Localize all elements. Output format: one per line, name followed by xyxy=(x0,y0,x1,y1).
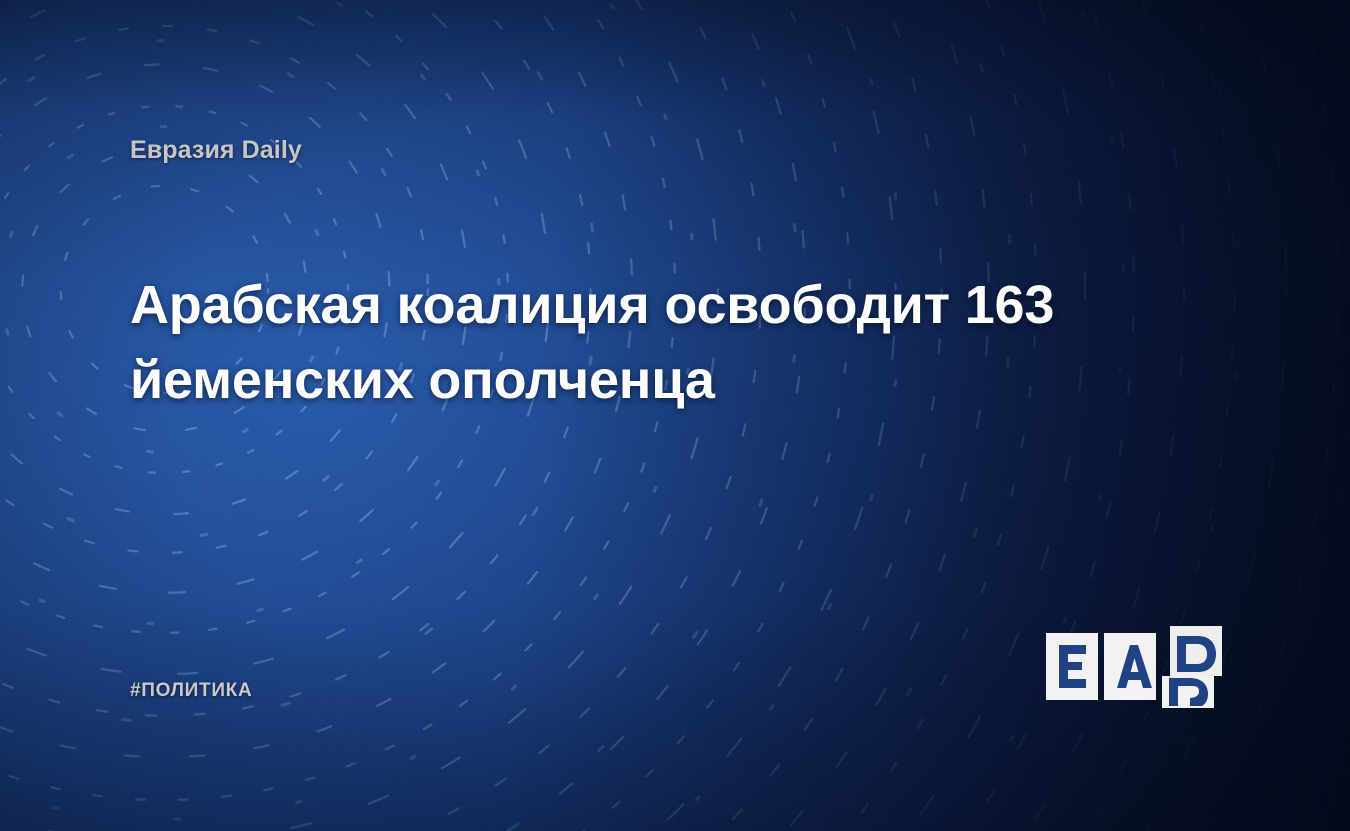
page-title: Арабская коалиция освободит 163 йеменски… xyxy=(130,268,1110,418)
news-card: Евразия Daily Арабская коалиция освободи… xyxy=(0,0,1350,831)
card-content: Евразия Daily Арабская коалиция освободи… xyxy=(0,0,1350,831)
logo-letter-e xyxy=(1059,645,1086,688)
site-brand[interactable]: Евразия Daily xyxy=(130,136,302,165)
category-tag[interactable]: #ПОЛИТИКА xyxy=(130,680,252,702)
ead-logo[interactable] xyxy=(1046,620,1228,708)
